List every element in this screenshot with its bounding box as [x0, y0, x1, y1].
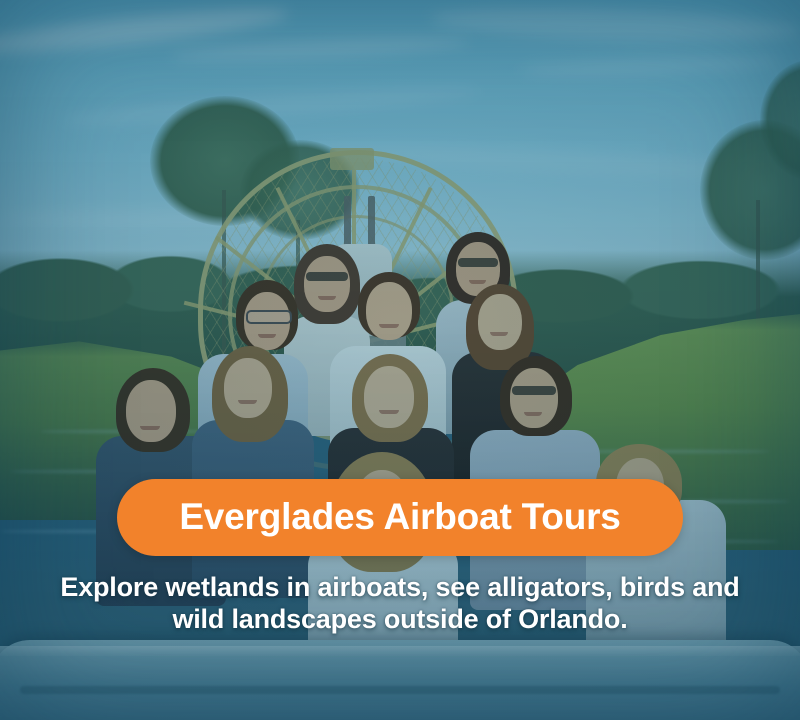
- card-subtitle: Explore wetlands in airboats, see alliga…: [0, 572, 800, 636]
- title-banner[interactable]: Everglades Airboat Tours: [117, 479, 682, 556]
- tour-promo-card[interactable]: Everglades Airboat Tours Explore wetland…: [0, 0, 800, 720]
- page-title: Everglades Airboat Tours: [179, 498, 620, 535]
- card-content: Everglades Airboat Tours Explore wetland…: [0, 479, 800, 720]
